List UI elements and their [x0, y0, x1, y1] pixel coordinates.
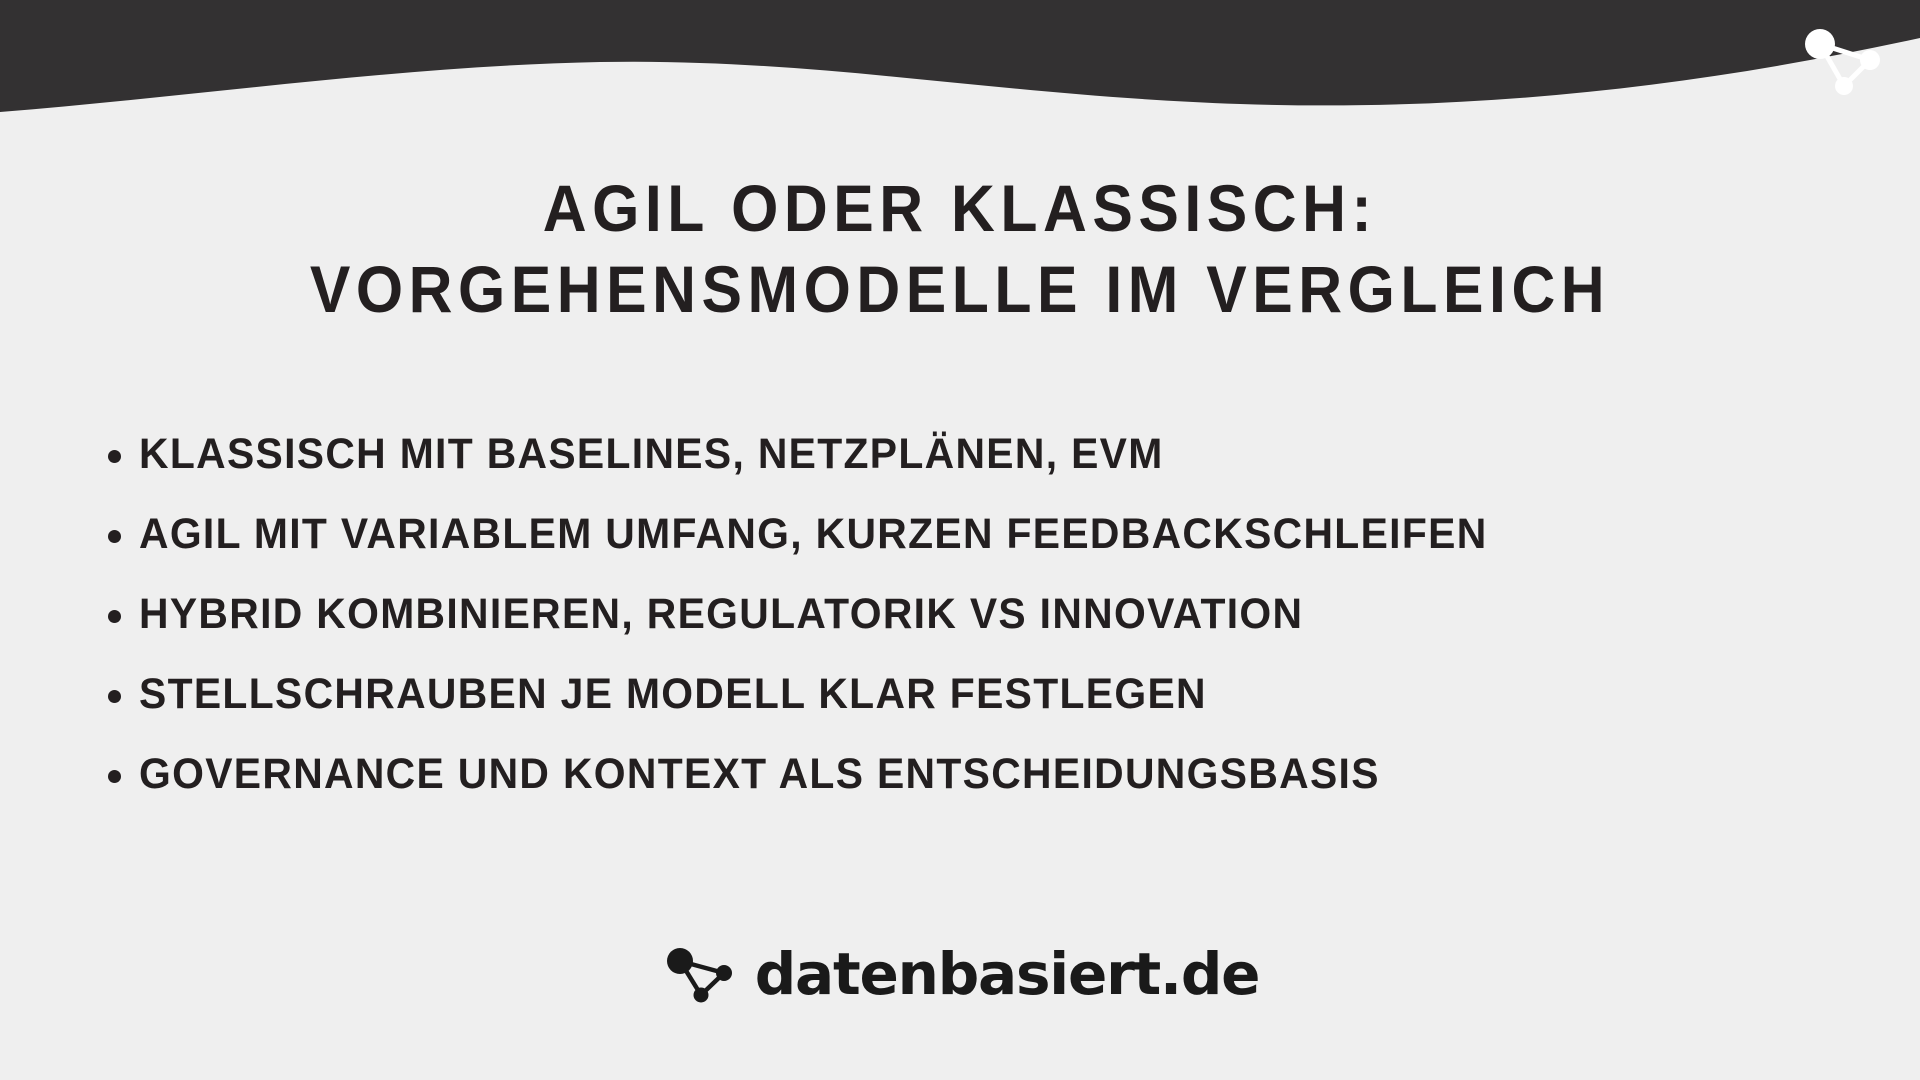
list-item: Stellschrauben je Modell klar festlegen [108, 670, 1828, 722]
bullet-text: Hybrid kombinieren, Regulatorik vs Innov… [139, 590, 1303, 639]
bullet-list: Klassisch mit Baselines, Netzplänen, EVM… [108, 430, 1828, 802]
node-large-icon [667, 948, 693, 974]
footer-logo-icon [661, 940, 743, 1008]
list-item: Agil mit variablem Umfang, kurzen Feedba… [108, 510, 1828, 562]
header-wave-band [0, 0, 1920, 150]
bullet-text: Governance und Kontext als Entscheidungs… [139, 750, 1380, 799]
node-large-icon [1805, 29, 1835, 59]
bullet-text: Klassisch mit Baselines, Netzplänen, EVM [139, 430, 1164, 479]
list-item: Governance und Kontext als Entscheidungs… [108, 750, 1828, 802]
page-title: Agil oder klassisch: Vorgehensmodelle im… [187, 168, 1733, 329]
node-bottom-icon [693, 988, 708, 1003]
list-item: Hybrid kombinieren, Regulatorik vs Innov… [108, 590, 1828, 642]
footer-wordmark: datenbasiert.de [755, 945, 1260, 1003]
footer-brand[interactable]: datenbasiert.de [0, 940, 1920, 1008]
header-logo[interactable] [1796, 18, 1892, 102]
node-bottom-icon [1835, 77, 1853, 95]
node-right-icon [1860, 50, 1880, 70]
bullet-text: Agil mit variablem Umfang, kurzen Feedba… [139, 510, 1488, 559]
bullet-text: Stellschrauben je Modell klar festlegen [139, 670, 1207, 719]
bullet-dot-icon [108, 610, 121, 623]
title-block: Agil oder klassisch: Vorgehensmodelle im… [120, 168, 1800, 329]
node-right-icon [716, 965, 732, 981]
slide-canvas: Agil oder klassisch: Vorgehensmodelle im… [0, 0, 1920, 1080]
bullet-dot-icon [108, 450, 121, 463]
bullet-dot-icon [108, 690, 121, 703]
bullet-dot-icon [108, 770, 121, 783]
list-item: Klassisch mit Baselines, Netzplänen, EVM [108, 430, 1828, 482]
bullet-dot-icon [108, 530, 121, 543]
